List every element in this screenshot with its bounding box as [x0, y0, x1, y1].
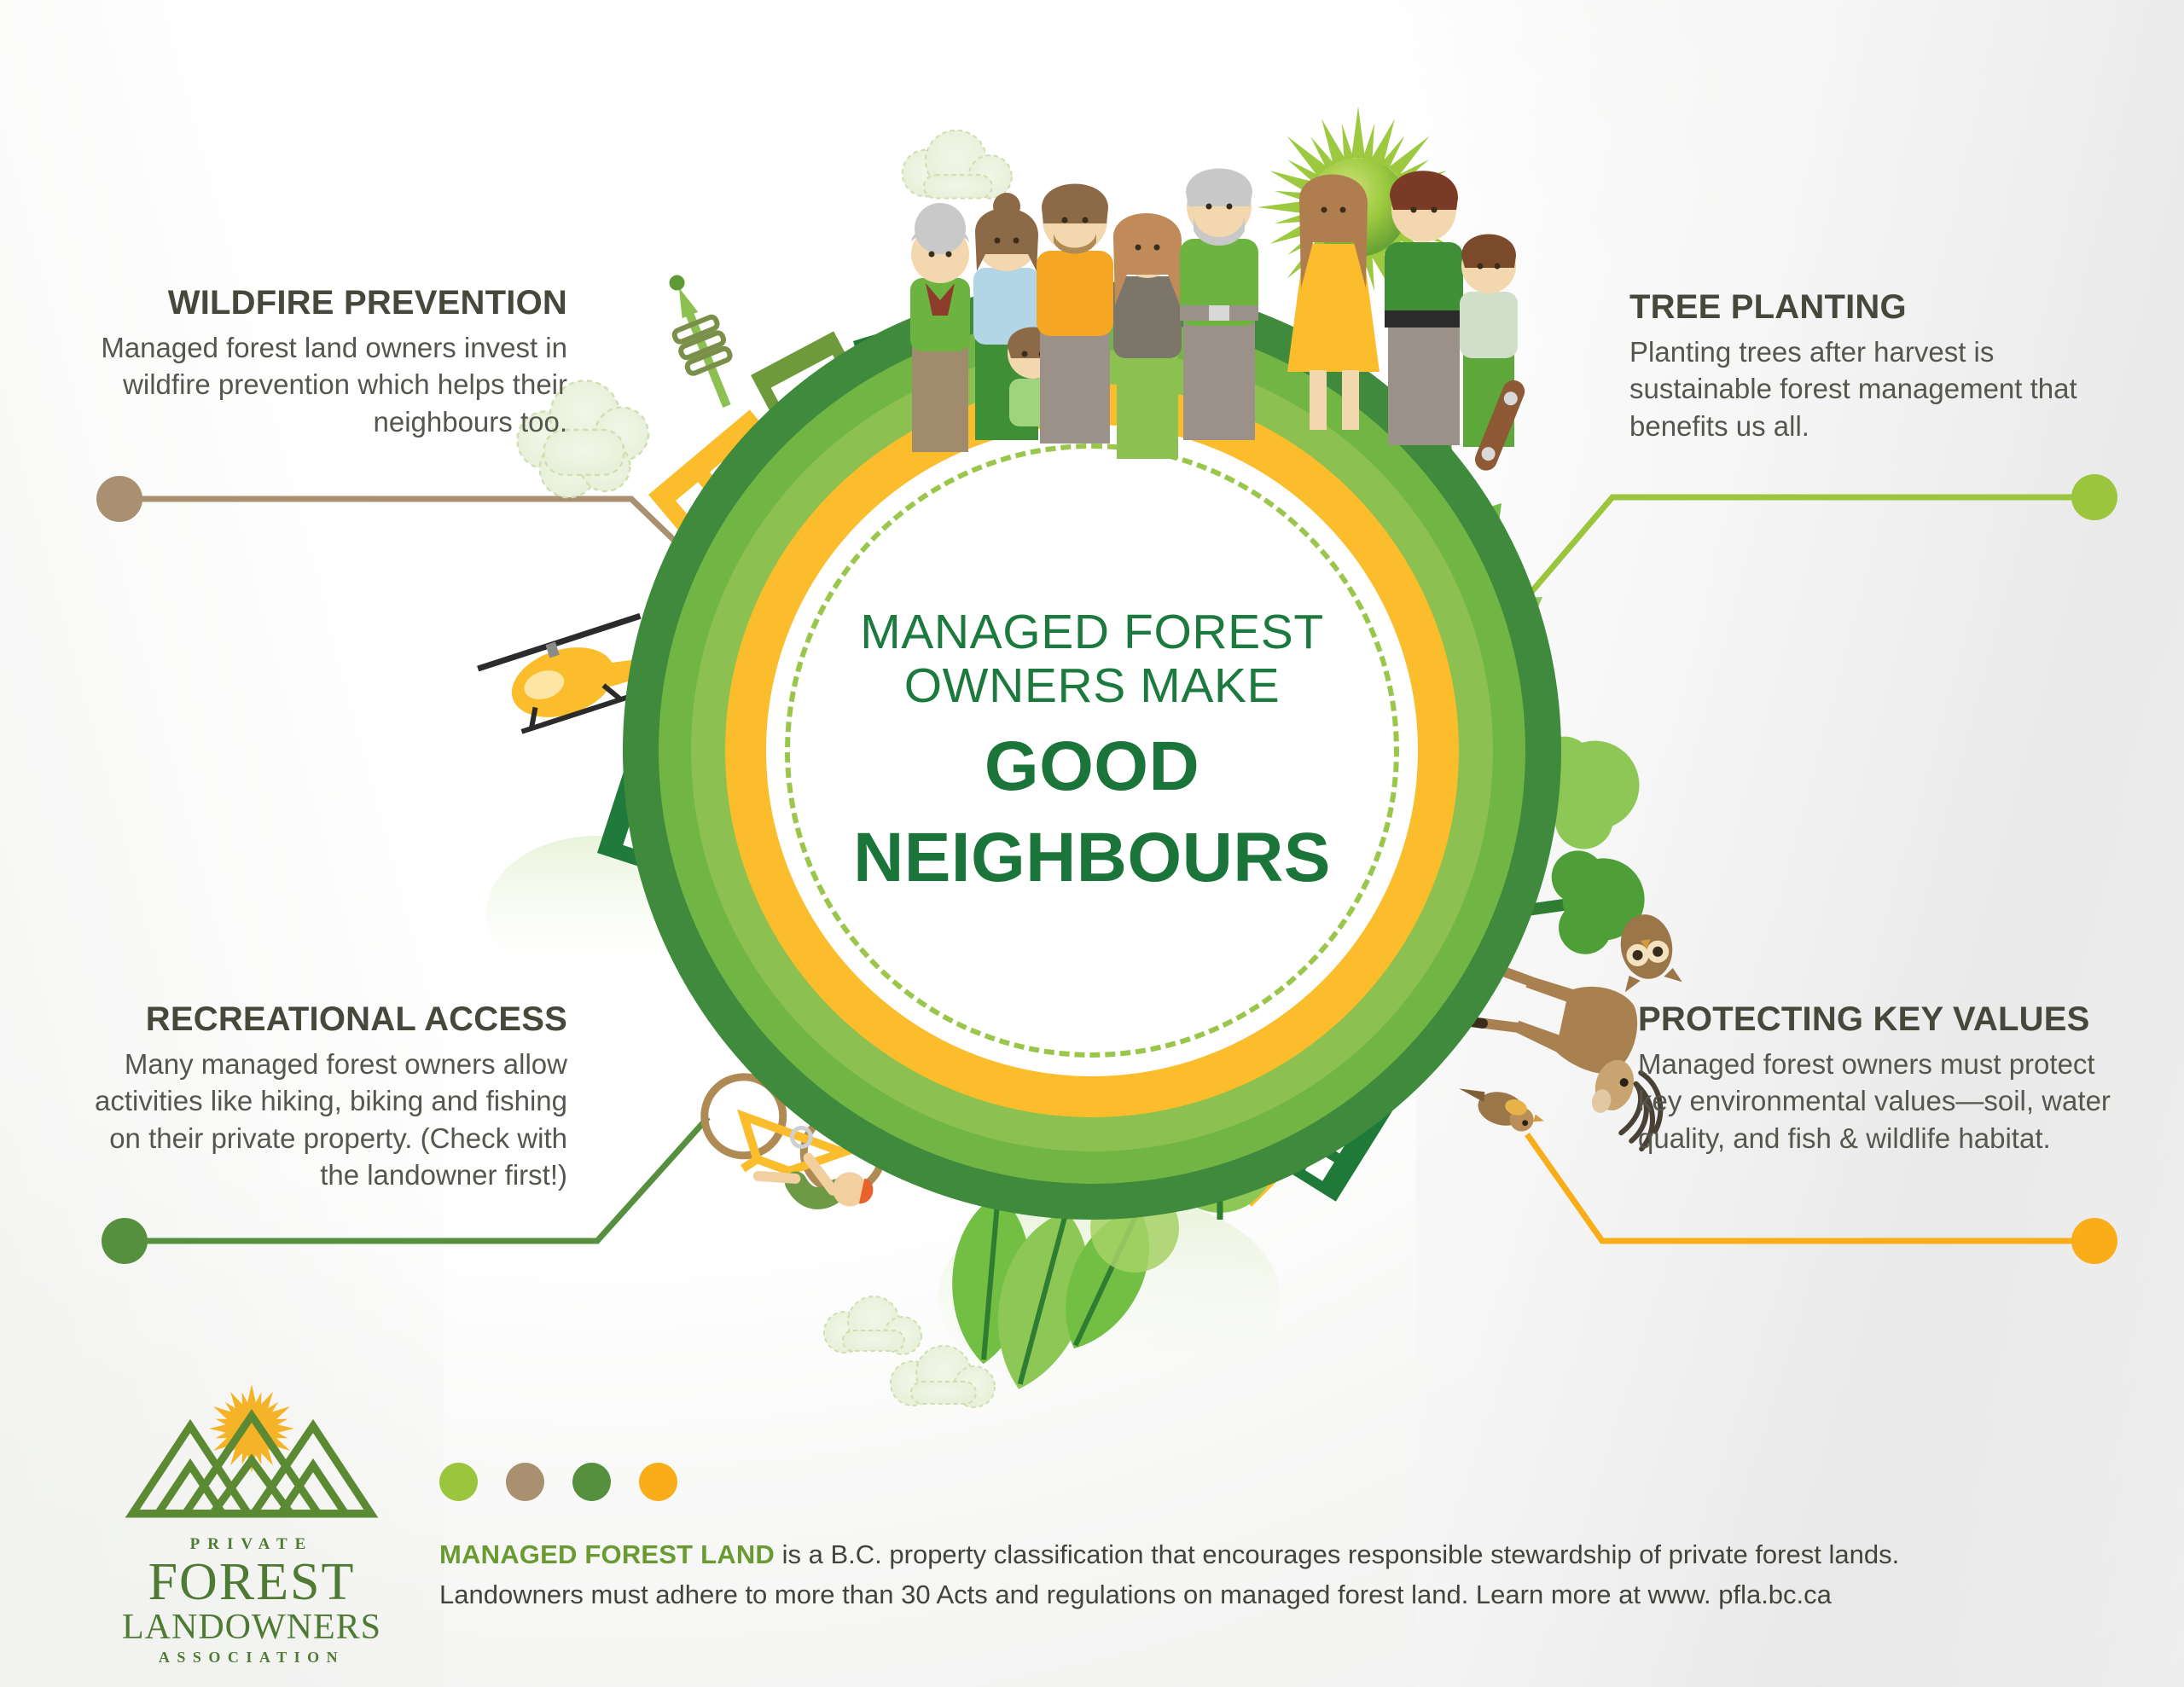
callout-body-recreational-access: Many managed forest owners allow activit… — [81, 1046, 567, 1194]
owl-icon — [1612, 910, 1682, 993]
callout-title-tree-planting: TREE PLANTING — [1629, 290, 2124, 325]
logo-word-forest: FOREST — [102, 1556, 401, 1609]
pfla-logo-text: PRIVATE FOREST LANDOWNERS ASSOCIATION — [102, 1535, 401, 1667]
callout-body-tree-planting: Planting trees after harvest is sustaina… — [1629, 333, 2124, 445]
footer-dot-dark-green — [572, 1463, 611, 1501]
footer-color-dots — [439, 1463, 677, 1501]
globe-graphic: MANAGED FOREST OWNERS MAKE GOOD NEIGHBOU… — [623, 281, 1561, 1220]
callout-body-protecting-key-values: Managed forest owners must protect key e… — [1638, 1046, 2133, 1157]
callout-recreational-access: RECREATIONAL ACCESS Many managed forest … — [81, 1002, 567, 1194]
callout-wildfire-prevention: WILDFIRE PREVENTION Managed forest land … — [81, 286, 567, 440]
logo-word-association: ASSOCIATION — [102, 1649, 401, 1667]
logo-word-private: PRIVATE — [102, 1535, 401, 1554]
logo-word-landowners: LANDOWNERS — [102, 1609, 401, 1646]
footer-note: MANAGED FOREST LAND is a B.C. property c… — [439, 1535, 2069, 1615]
callout-tree-planting: TREE PLANTING Planting trees after harve… — [1629, 290, 2124, 444]
footer-note-line2: Landowners must adhere to more than 30 A… — [439, 1580, 1832, 1609]
callout-title-recreational-access: RECREATIONAL ACCESS — [81, 1002, 567, 1037]
center-line-4: NEIGHBOURS — [853, 820, 1331, 896]
footer-dot-light-green — [439, 1463, 478, 1501]
footer-dot-orange — [639, 1463, 677, 1501]
footer-dot-tan — [506, 1463, 544, 1501]
center-headline: MANAGED FOREST OWNERS MAKE GOOD NEIGHBOU… — [766, 425, 1418, 1076]
green-sun-icon — [1258, 107, 1459, 308]
callout-protecting-key-values: PROTECTING KEY VALUES Managed forest own… — [1638, 1002, 2133, 1157]
center-line-1: MANAGED FOREST — [860, 606, 1324, 660]
footer-note-rest-line1: is a B.C. property classification that e… — [775, 1539, 1899, 1569]
callout-body-wildfire-prevention: Managed forest land owners invest in wil… — [81, 329, 567, 441]
connector-tree-planting — [1527, 474, 2117, 597]
footer-note-highlight: MANAGED FOREST LAND — [439, 1539, 775, 1569]
infographic-canvas: MANAGED FOREST OWNERS MAKE GOOD NEIGHBOU… — [0, 0, 2184, 1687]
center-line-2: OWNERS MAKE — [904, 659, 1280, 714]
center-line-3: GOOD — [985, 729, 1199, 805]
callout-title-wildfire-prevention: WILDFIRE PREVENTION — [81, 286, 567, 321]
callout-title-protecting-key-values: PROTECTING KEY VALUES — [1638, 1002, 2133, 1037]
